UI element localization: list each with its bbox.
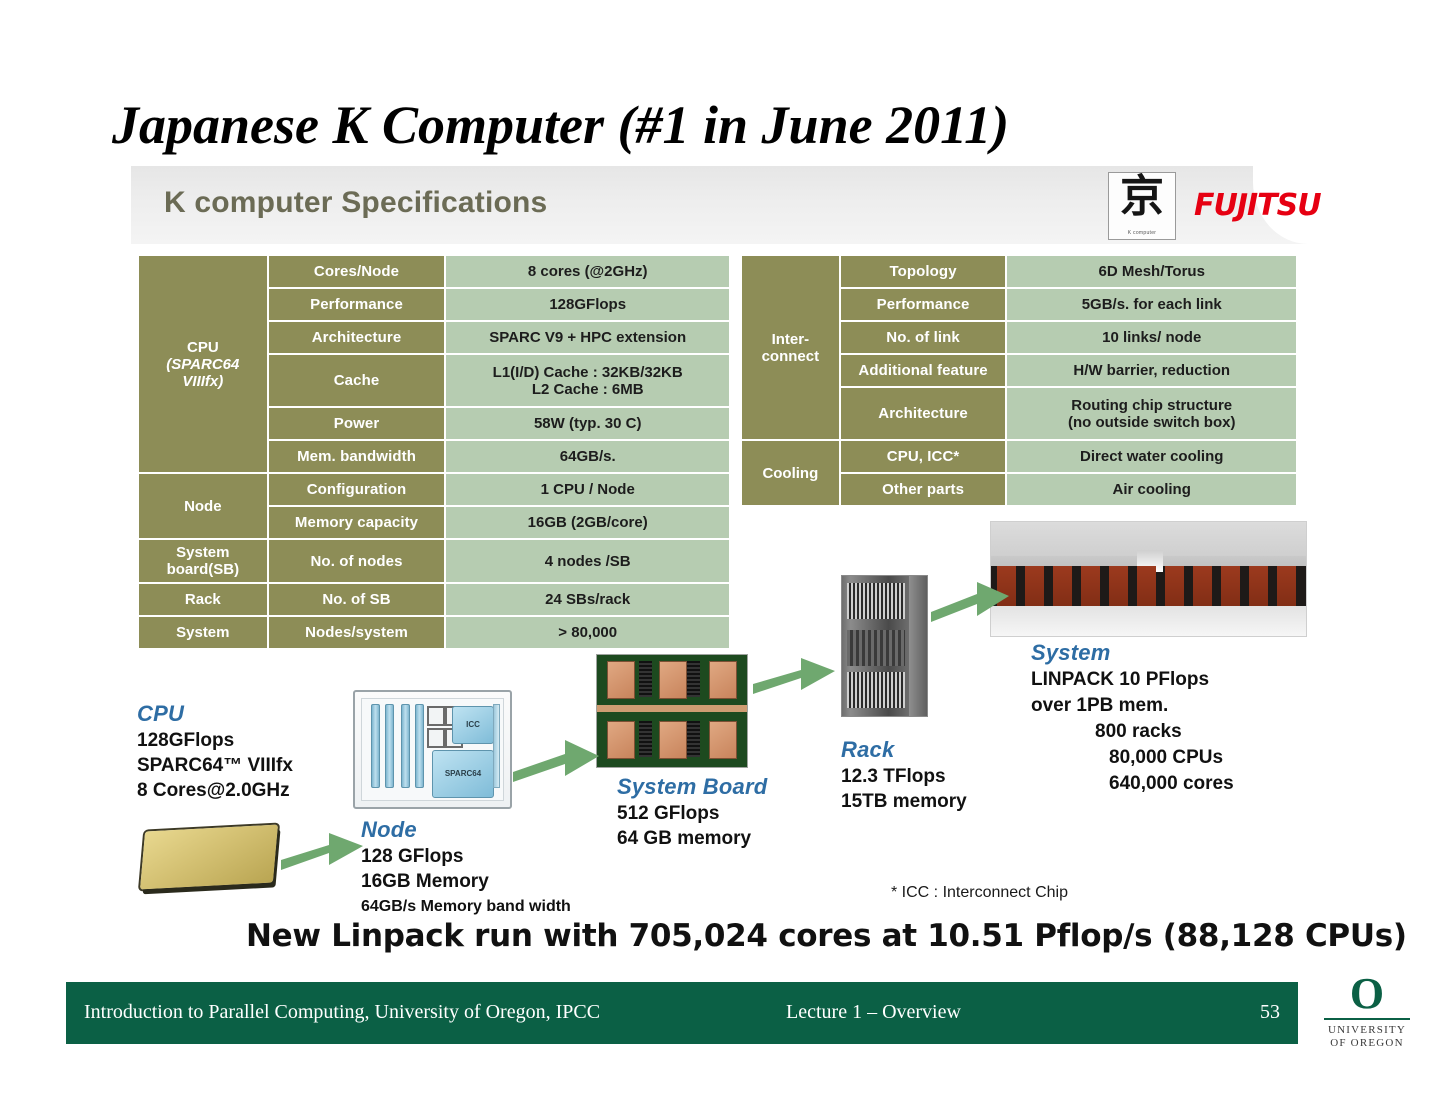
icc-chip-icon: ICC [452, 706, 494, 744]
spec-row-value: Air cooling [1007, 474, 1296, 505]
interconnect-cooling-spec-table: Inter-connectTopology6D Mesh/TorusPerfor… [740, 254, 1298, 507]
spec-panel-header: K computer Specifications 京 K computer F… [131, 166, 1313, 244]
table-row: NodeConfiguration1 CPU / Node [139, 474, 729, 505]
spec-row-label: Nodes/system [269, 617, 445, 648]
rack-silhouette [1249, 566, 1268, 611]
spec-row-label: Mem. bandwidth [269, 441, 445, 472]
node-line-2: 16GB Memory [361, 869, 571, 894]
spec-row-value: 16GB (2GB/core) [446, 507, 729, 538]
arrow-node-to-system-board [511, 726, 601, 784]
system-line-5: 640,000 cores [1031, 771, 1234, 797]
node-label-block: Node 128 GFlops 16GB Memory 64GB/s Memor… [361, 817, 571, 919]
spec-row-label: No. of SB [269, 584, 445, 615]
icc-footnote: * ICC : Interconnect Chip [891, 884, 1068, 902]
system-line-3: 800 racks [1031, 719, 1234, 745]
rack-line-2: 15TB memory [841, 789, 967, 814]
system-label-block: System LINPACK 10 PFlops over 1PB mem. 8… [1031, 640, 1234, 797]
spec-row-value: 128GFlops [446, 289, 729, 320]
spec-row-value: 5GB/s. for each link [1007, 289, 1296, 320]
table-row: SystemNodes/system> 80,000 [139, 617, 729, 648]
system-board-line-1: 512 GFlops [617, 801, 767, 826]
arrow-system-board-to-rack [751, 646, 837, 698]
spec-row-label: Performance [269, 289, 445, 320]
node-dimm-icon [371, 704, 380, 788]
table-row: System board(SB)No. of nodes4 nodes /SB [139, 540, 729, 582]
system-board-heading: System Board [617, 774, 767, 800]
cpu-label-block: CPU 128GFlops SPARC64™ VIIIfx 8 Cores@2.… [137, 701, 293, 803]
node-dimm-icon [401, 704, 410, 788]
system-line-4: 80,000 CPUs [1031, 745, 1234, 771]
node-dimm-icon [385, 704, 394, 788]
k-computer-spec-panel: K computer Specifications 京 K computer F… [131, 166, 1313, 956]
cpu-line-1: 128GFlops [137, 728, 293, 753]
spec-group-name: Node [139, 474, 267, 538]
spec-row-value: 64GB/s. [446, 441, 729, 472]
sparc64-chip-icon: SPARC64 [432, 750, 494, 798]
rack-silhouette [1193, 566, 1212, 611]
spec-row-value: 10 links/ node [1007, 322, 1296, 353]
spec-group-name: CPU(SPARC64 VIIIfx) [139, 256, 267, 472]
node-line-1: 128 GFlops [361, 844, 571, 869]
spec-row-value: 24 SBs/rack [446, 584, 729, 615]
system-room-photo [990, 521, 1307, 637]
spec-group-name: System [139, 617, 267, 648]
rack-silhouette [1165, 566, 1184, 611]
uo-logo-rule [1324, 1018, 1410, 1020]
rack-heading: Rack [841, 737, 967, 763]
spec-row-value: H/W barrier, reduction [1007, 355, 1296, 386]
rack-silhouette [1025, 566, 1044, 611]
footer-lecture-label: Lecture 1 – Overview [786, 1001, 961, 1024]
spec-row-label: Power [269, 408, 445, 439]
k-computer-logo-icon: 京 K computer [1108, 172, 1176, 240]
spec-group-name: System board(SB) [139, 540, 267, 582]
rack-photo [841, 575, 928, 717]
node-dimm-icon [415, 704, 424, 788]
footer-bar: Introduction to Parallel Computing, Univ… [66, 982, 1298, 1044]
system-line-1: LINPACK 10 PFlops [1031, 667, 1234, 693]
rack-label-block: Rack 12.3 TFlops 15TB memory [841, 737, 967, 814]
cpu-die [140, 825, 278, 890]
table-row: CoolingCPU, ICC*Direct water cooling [742, 441, 1296, 472]
spec-row-value: L1(I/D) Cache : 32KB/32KBL2 Cache : 6MB [446, 355, 729, 406]
node-small-chip-icon [427, 706, 445, 726]
university-of-oregon-logo: O UNIVERSITY OF OREGON [1306, 972, 1428, 1054]
cpu-node-spec-table: CPU(SPARC64 VIIIfx)Cores/Node8 cores (@2… [137, 254, 731, 650]
rack-line-1: 12.3 TFlops [841, 764, 967, 789]
table-row: RackNo. of SB24 SBs/rack [139, 584, 729, 615]
spec-row-label: CPU, ICC* [841, 441, 1006, 472]
spec-row-label: Performance [841, 289, 1006, 320]
system-line-2: over 1PB mem. [1031, 693, 1234, 719]
rack-silhouette [1081, 566, 1100, 611]
node-connector [493, 704, 500, 788]
spec-row-value: 1 CPU / Node [446, 474, 729, 505]
spec-row-value: > 80,000 [446, 617, 729, 648]
rack-silhouette [1137, 566, 1156, 611]
node-illustration: ICC SPARC64 [353, 690, 512, 809]
system-heading: System [1031, 640, 1234, 666]
spec-row-label: No. of link [841, 322, 1006, 353]
spec-row-label: Memory capacity [269, 507, 445, 538]
linpack-run-note: New Linpack run with 705,024 cores at 10… [246, 918, 1407, 954]
arrow-rack-to-system [929, 572, 1011, 624]
node-small-chip-icon [427, 728, 445, 748]
footer-course-label: Introduction to Parallel Computing, Univ… [84, 1001, 600, 1024]
spec-row-value: 58W (typ. 30 C) [446, 408, 729, 439]
spec-row-label: Cores/Node [269, 256, 445, 287]
fujitsu-logo-icon: FUJITSU [1194, 188, 1321, 223]
spec-row-value: Routing chip structure(no outside switch… [1007, 388, 1296, 439]
spec-group-name: Inter-connect [742, 256, 839, 439]
cpu-line-3: 8 Cores@2.0GHz [137, 778, 293, 803]
k-logo-caption: K computer [1109, 230, 1175, 236]
spec-row-value: 6D Mesh/Torus [1007, 256, 1296, 287]
rack-silhouette [1053, 566, 1072, 611]
uo-logo-line-2: OF OREGON [1306, 1037, 1428, 1050]
spec-row-label: Architecture [841, 388, 1006, 439]
rack-silhouette [1277, 566, 1296, 611]
footer-page-number: 53 [1260, 1001, 1280, 1024]
system-board-photo [596, 654, 748, 768]
spec-row-label: Other parts [841, 474, 1006, 505]
system-board-label-block: System Board 512 GFlops 64 GB memory [617, 774, 767, 851]
spec-row-label: No. of nodes [269, 540, 445, 582]
rack-silhouette [1221, 566, 1240, 611]
spec-row-value: 4 nodes /SB [446, 540, 729, 582]
spec-row-label: Topology [841, 256, 1006, 287]
table-row: CPU(SPARC64 VIIIfx)Cores/Node8 cores (@2… [139, 256, 729, 287]
spec-group-name: Rack [139, 584, 267, 615]
uo-logo-line-1: UNIVERSITY [1306, 1024, 1428, 1037]
uo-logo-letter: O [1306, 972, 1428, 1016]
cpu-line-2: SPARC64™ VIIIfx [137, 753, 293, 778]
spec-panel-title: K computer Specifications [164, 186, 547, 220]
spec-row-label: Configuration [269, 474, 445, 505]
page-title: Japanese K Computer (#1 in June 2011) [112, 95, 1312, 155]
spec-row-value: SPARC V9 + HPC extension [446, 322, 729, 353]
spec-row-label: Additional feature [841, 355, 1006, 386]
spec-row-label: Cache [269, 355, 445, 406]
spec-row-value: 8 cores (@2GHz) [446, 256, 729, 287]
spec-group-name: Cooling [742, 441, 839, 505]
rack-silhouette [1109, 566, 1128, 611]
node-line-3: 64GB/s Memory band width [361, 894, 571, 919]
cpu-chip-photo [137, 824, 287, 894]
cpu-heading: CPU [137, 701, 293, 727]
spec-row-value: Direct water cooling [1007, 441, 1296, 472]
system-board-line-2: 64 GB memory [617, 826, 767, 851]
spec-row-label: Architecture [269, 322, 445, 353]
node-heading: Node [361, 817, 571, 843]
table-row: Inter-connectTopology6D Mesh/Torus [742, 256, 1296, 287]
k-logo-kanji: 京 [1109, 172, 1175, 223]
arrow-cpu-to-node [279, 820, 365, 872]
